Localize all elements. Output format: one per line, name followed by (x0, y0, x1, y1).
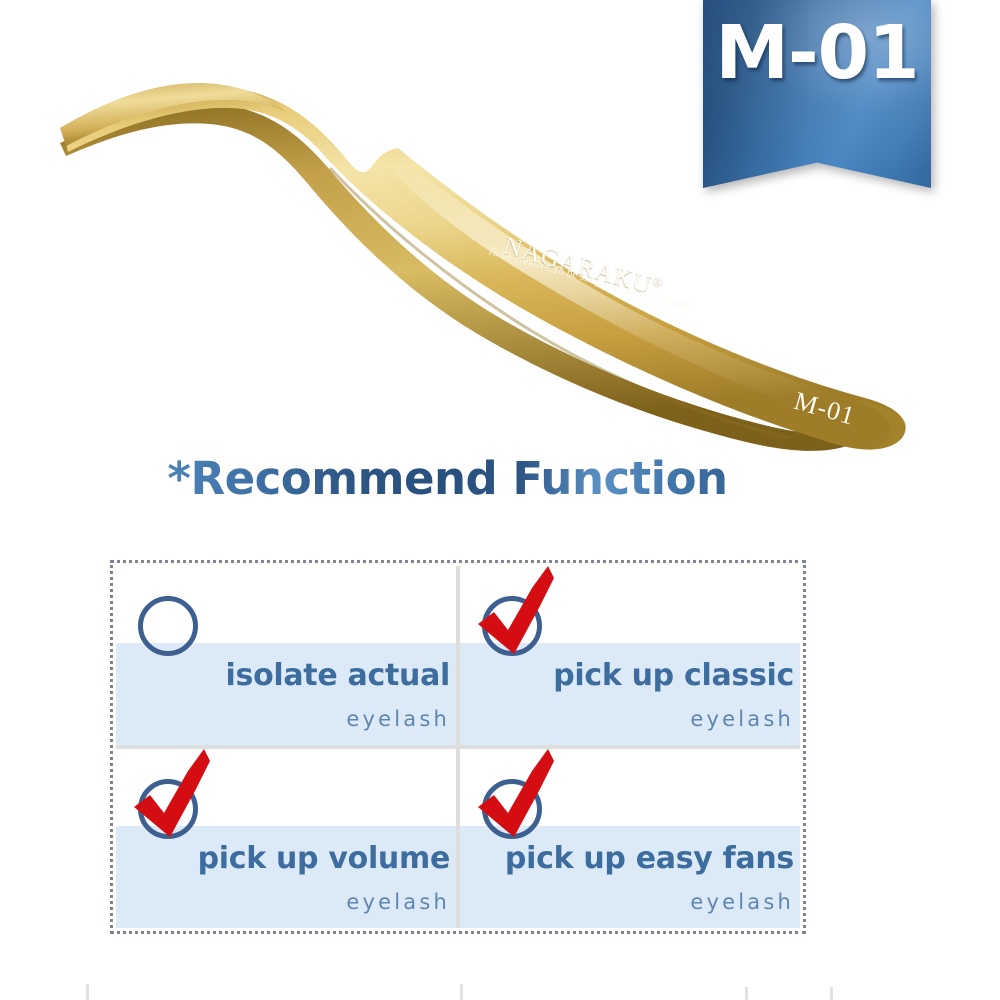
cell-text-block: pick up volume eyelash (116, 749, 456, 928)
feature-subtitle: eyelash (346, 890, 450, 914)
bottom-tick-mark (830, 987, 833, 1000)
ribbon-model-label: M-01 (703, 16, 931, 90)
model-ribbon-banner: M-01 (703, 0, 931, 188)
feature-subtitle: eyelash (690, 890, 794, 914)
recommend-function-heading: *Recommend Function (0, 452, 895, 505)
cell-text-block: isolate actual eyelash (116, 566, 456, 745)
cell-text-block: pick up classic eyelash (460, 566, 800, 745)
bottom-tick-mark (86, 984, 89, 1000)
feature-cell-pick-up-classic[interactable]: pick up classic eyelash (460, 566, 800, 745)
feature-grid-inner: isolate actual eyelash pick up classic e… (116, 566, 800, 928)
feature-cell-pick-up-volume[interactable]: pick up volume eyelash (116, 749, 456, 928)
feature-subtitle: eyelash (690, 707, 794, 731)
feature-cell-pick-up-easy-fans[interactable]: pick up easy fans eyelash (460, 749, 800, 928)
feature-cell-isolate-actual[interactable]: isolate actual eyelash (116, 566, 456, 745)
feature-title: pick up classic (553, 660, 794, 692)
product-graphic-page: NAGARAKU® To be creative,To be simple,To… (0, 0, 1000, 1000)
feature-title: pick up easy fans (505, 843, 794, 875)
recommend-function-grid: isolate actual eyelash pick up classic e… (110, 560, 806, 934)
feature-title: pick up volume (198, 843, 450, 875)
bottom-tick-mark (745, 987, 748, 1000)
bottom-tick-mark (460, 984, 463, 1000)
feature-title: isolate actual (226, 660, 450, 692)
cell-text-block: pick up easy fans eyelash (460, 749, 800, 928)
feature-subtitle: eyelash (346, 707, 450, 731)
